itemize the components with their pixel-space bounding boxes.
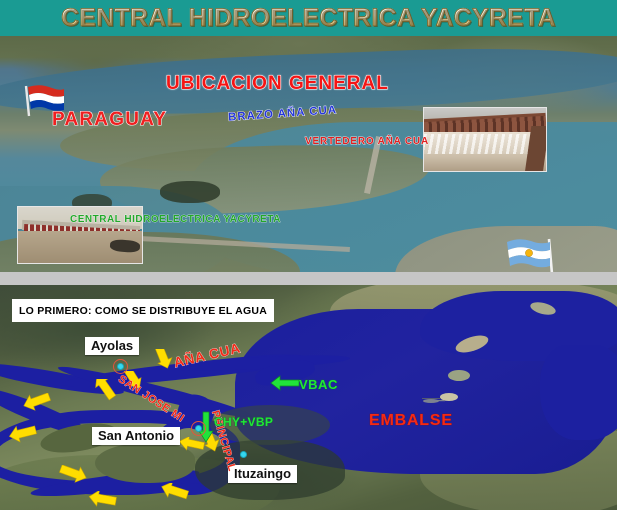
flow-arrow-yellow-6	[160, 483, 190, 507]
city-label-ayolas: Ayolas	[85, 337, 139, 355]
flow-arrow-yellow-3	[22, 393, 52, 417]
reservoir-island-2	[448, 370, 470, 381]
map-label-vbac: VBAC	[299, 377, 338, 392]
map-label-vertedero-ana-cua: VERTEDERO AÑA CUA	[305, 136, 429, 147]
panel-divider	[0, 272, 617, 285]
flow-arrow-yellow-4	[8, 425, 38, 449]
distribution-banner: LO PRIMERO: COMO SE DISTRIBUYE EL AGUA	[12, 299, 274, 322]
map-label-central-hidroelectrica-yacyreta: CENTRAL HIDROELECTRICA YACYRETA	[70, 214, 281, 225]
argentina-flag-icon	[505, 236, 557, 272]
flow-arrow-green-vbac	[270, 375, 300, 391]
city-label-san-antonio: San Antonio	[92, 427, 180, 445]
distribution-banner-text: LO PRIMERO: COMO SE DISTRIBUYE EL AGUA	[19, 305, 267, 317]
flow-arrow-yellow-10	[150, 349, 176, 373]
map-panel-ubicacion-general: UBICACION GENERAL PARAGUAY BRAZO AÑA CUA…	[0, 36, 617, 272]
helicopter-icon	[420, 397, 446, 404]
map-label-chy-vbp: CHY+VBP	[214, 415, 273, 429]
embalse-reservoir-east-arm	[540, 345, 617, 440]
map-label-paraguay: PARAGUAY	[52, 109, 167, 131]
flow-arrow-yellow-5	[58, 465, 88, 489]
vertedero-ana-cua-photo-inset	[423, 107, 547, 172]
dark-vegetation-patch	[160, 181, 220, 203]
map-heading-ubicacion-general: UBICACION GENERAL	[166, 73, 389, 95]
ituzaingo-marker-dot	[240, 451, 247, 458]
map-label-embalse: EMBALSE	[369, 412, 453, 430]
city-label-ituzaingo: Ituzaingo	[228, 465, 297, 483]
flow-arrow-yellow-7	[88, 491, 118, 510]
ayolas-marker-dot	[117, 363, 124, 370]
san-antonio-marker-dot	[195, 425, 202, 432]
map-panel-distribucion-agua: LO PRIMERO: COMO SE DISTRIBUYE EL AGUA A…	[0, 285, 617, 510]
presentation-slide: CENTRAL HIDROELECTRICA YACYRETA	[0, 0, 617, 510]
slide-title-banner: CENTRAL HIDROELECTRICA YACYRETA	[0, 0, 617, 36]
page-title: CENTRAL HIDROELECTRICA YACYRETA	[61, 4, 556, 33]
